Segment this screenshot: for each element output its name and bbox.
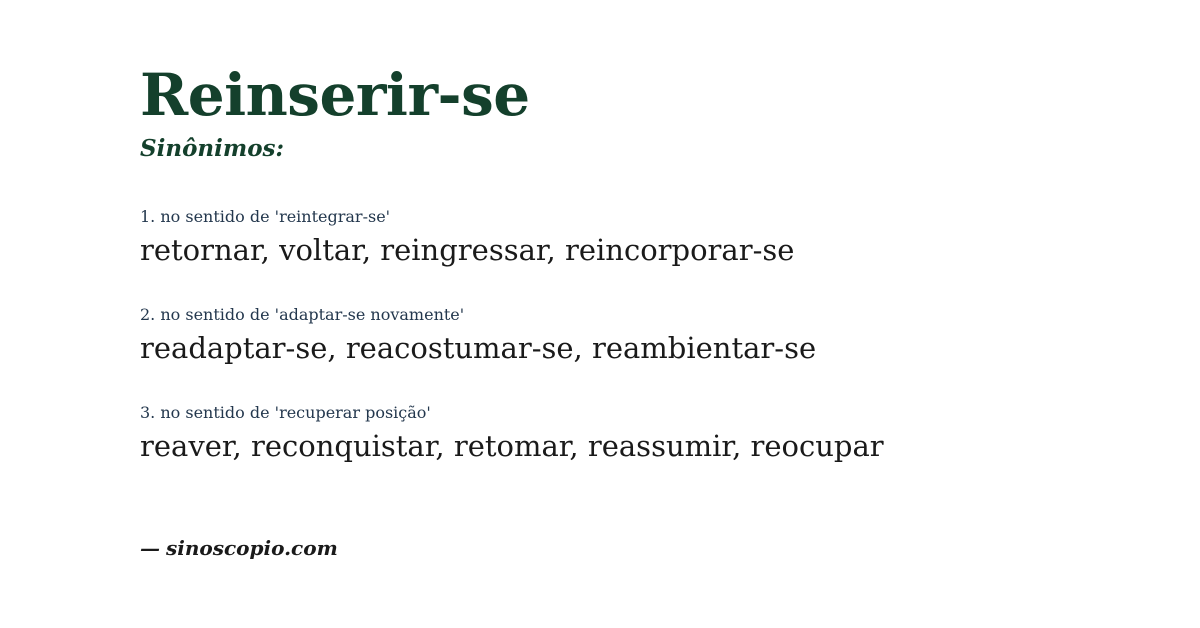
sense-synonyms: readaptar-se, reacostumar-se, reambienta… [140, 329, 1160, 367]
sense-label: 2. no sentido de 'adaptar-se novamente' [140, 304, 1160, 326]
sense-label: 1. no sentido de 'reintegrar-se' [140, 206, 1160, 228]
list-item: 2. no sentido de 'adaptar-se novamente' … [140, 304, 1160, 367]
sense-list: 1. no sentido de 'reintegrar-se' retorna… [140, 206, 1160, 465]
source-name: sinoscopio.com [166, 536, 338, 560]
sense-synonyms: retornar, voltar, reingressar, reincorpo… [140, 231, 1160, 269]
list-item: 3. no sentido de 'recuperar posição' rea… [140, 402, 1160, 465]
subtitle-synonyms: Sinônimos: [140, 134, 284, 164]
synonym-card: Reinserir-se Sinônimos: 1. no sentido de… [0, 0, 1200, 628]
page-title: Reinserir-se [140, 62, 530, 128]
source-attribution: —sinoscopio.com [140, 534, 338, 562]
sense-label: 3. no sentido de 'recuperar posição' [140, 402, 1160, 424]
list-item: 1. no sentido de 'reintegrar-se' retorna… [140, 206, 1160, 269]
em-dash-icon: — [140, 536, 166, 560]
sense-synonyms: reaver, reconquistar, retomar, reassumir… [140, 427, 1160, 465]
